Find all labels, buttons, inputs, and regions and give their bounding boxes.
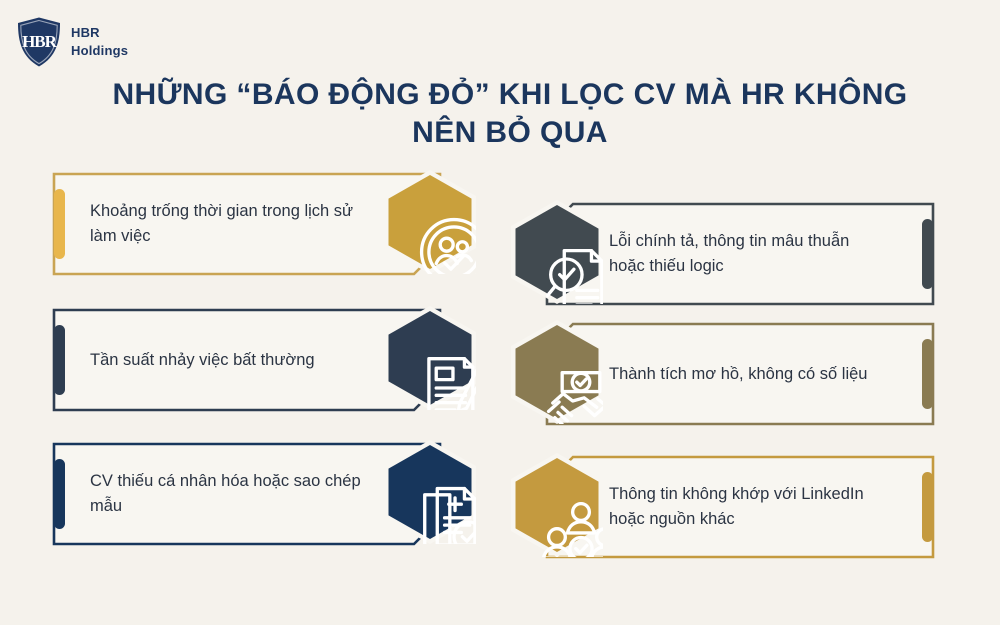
card-label: Lỗi chính tả, thông tin mâu thuẫn hoặc t…	[609, 202, 889, 306]
red-flag-card-frequent-job-hopping[interactable]: Tần suất nhảy việc bất thường	[52, 308, 442, 412]
card-hexagon-badge	[384, 306, 476, 410]
brand-logo: HBR HBR Holdings	[16, 16, 128, 68]
red-flag-card-spelling-and-logic-errors[interactable]: Lỗi chính tả, thông tin mâu thuẫn hoặc t…	[545, 202, 935, 306]
red-flag-card-gap-in-work-history[interactable]: Khoảng trống thời gian trong lịch sử làm…	[52, 172, 442, 276]
card-hexagon-badge	[511, 320, 603, 424]
brand-name-line1: HBR	[71, 24, 128, 42]
card-accent-bar	[54, 325, 65, 395]
card-hexagon-badge	[384, 170, 476, 274]
card-label: Khoảng trống thời gian trong lịch sử làm…	[90, 172, 380, 276]
page-title-line2: NÊN BỎ QUA	[90, 114, 930, 152]
red-flag-card-mismatched-linkedin-info[interactable]: Thông tin không khớp với LinkedIn hoặc n…	[545, 455, 935, 559]
page-title-line1: NHỮNG “BÁO ĐỘNG ĐỎ” KHI LỌC CV MÀ HR KHÔ…	[90, 76, 930, 114]
brand-name-line2: Holdings	[71, 42, 128, 60]
card-accent-bar	[922, 472, 933, 542]
red-flag-card-vague-achievements[interactable]: Thành tích mơ hồ, không có số liệu	[545, 322, 935, 426]
card-label: CV thiếu cá nhân hóa hoặc sao chép mẫu	[90, 442, 380, 546]
brand-name: HBR Holdings	[71, 24, 128, 60]
card-label: Tần suất nhảy việc bất thường	[90, 308, 380, 412]
card-accent-bar	[922, 339, 933, 409]
card-label: Thông tin không khớp với LinkedIn hoặc n…	[609, 455, 889, 559]
card-accent-bar	[922, 219, 933, 289]
card-accent-bar	[54, 189, 65, 259]
card-hexagon-badge	[511, 200, 603, 304]
card-accent-bar	[54, 459, 65, 529]
card-hexagon-badge	[384, 440, 476, 544]
card-hexagon-badge	[511, 453, 603, 557]
svg-text:HBR: HBR	[22, 32, 58, 51]
page-title: NHỮNG “BÁO ĐỘNG ĐỎ” KHI LỌC CV MÀ HR KHÔ…	[90, 76, 930, 153]
red-flag-card-generic-copied-cv[interactable]: CV thiếu cá nhân hóa hoặc sao chép mẫu	[52, 442, 442, 546]
card-label: Thành tích mơ hồ, không có số liệu	[609, 322, 889, 426]
shield-monogram-icon: HBR	[16, 16, 62, 68]
